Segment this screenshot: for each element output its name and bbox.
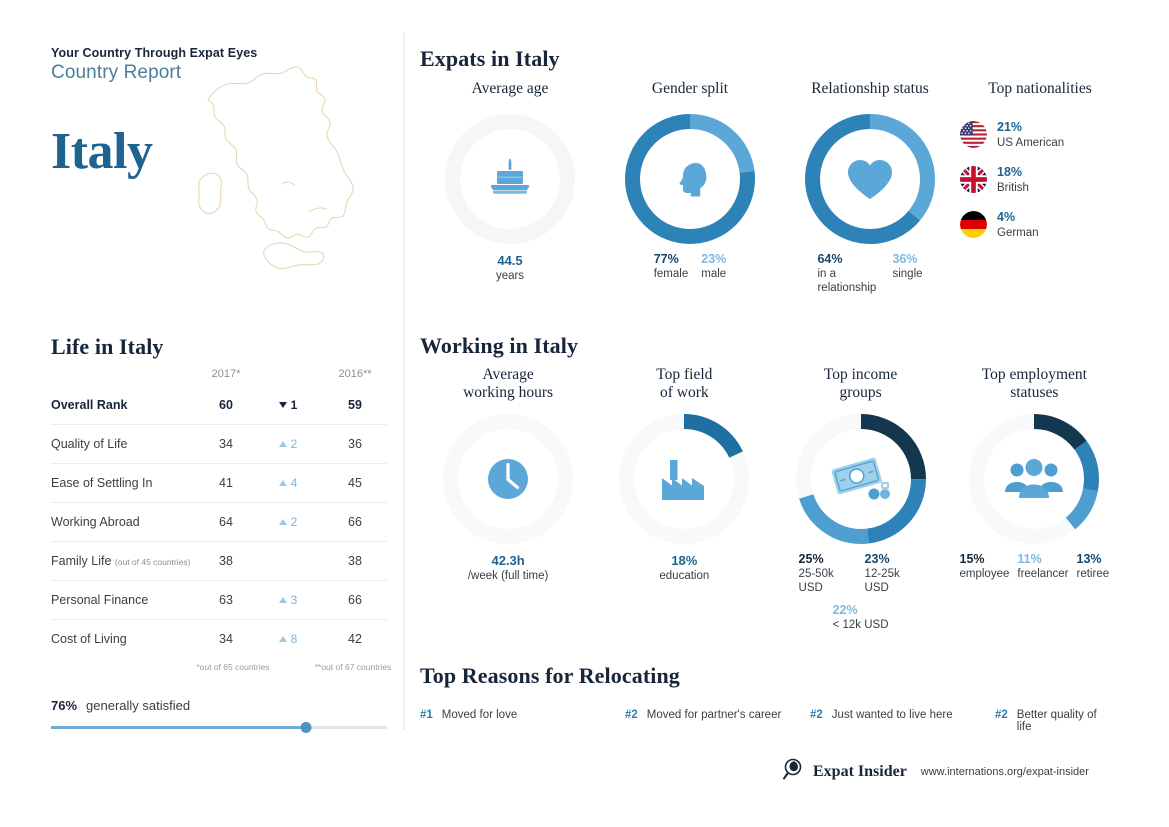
reason-rank: #1 <box>420 709 433 721</box>
reason-text: Moved for partner's career <box>647 709 782 721</box>
metric-value: 42.3h <box>420 553 596 568</box>
birthday-cake-icon <box>484 153 536 205</box>
table-row: Working Abroad64266 <box>51 503 387 542</box>
donut-chart <box>619 414 749 544</box>
infographic-page: Your Country Through Expat Eyes Country … <box>0 0 1169 827</box>
list-item: 18%British <box>960 163 1120 195</box>
factory-icon <box>658 456 710 502</box>
italy-outline-map-icon <box>160 52 370 282</box>
legend-label: freelancer <box>1017 567 1068 581</box>
list-item: 4%German <box>960 208 1120 240</box>
donut-chart <box>445 114 575 244</box>
legend-percent: 77% <box>654 252 689 267</box>
magnifier-globe-icon <box>782 757 806 786</box>
col-year-previous: 2016** <box>323 368 387 386</box>
row-value-previous: 42 <box>323 620 387 659</box>
table-header-row: 2017* 2016** <box>51 368 387 386</box>
donut-chart <box>443 414 573 544</box>
row-value-previous: 66 <box>323 503 387 542</box>
satisfaction-bar-knob[interactable] <box>301 722 312 733</box>
row-value-previous: 45 <box>323 464 387 503</box>
reason-item: #1Moved for love <box>420 709 625 733</box>
col-label <box>51 368 199 386</box>
row-value-current: 38 <box>199 542 253 581</box>
row-label: Quality of Life <box>51 425 199 464</box>
metric-block: 44.5years <box>420 253 600 282</box>
legend-label: 12-25k USD <box>865 567 923 595</box>
brand-lockup: Expat Insider <box>782 757 907 786</box>
row-value-current: 41 <box>199 464 253 503</box>
col-delta <box>253 368 323 386</box>
nationality-percent: 21% <box>997 120 1022 134</box>
legend-label: single <box>892 267 922 281</box>
expats-card-row: Average age44.5yearsGender split77%femal… <box>420 80 1120 295</box>
row-delta: 2 <box>253 425 323 464</box>
nationality-percent: 4% <box>997 210 1015 224</box>
metric-unit: education <box>596 570 772 582</box>
metric-value: 18% <box>596 553 772 568</box>
nationalities-list: 21%US American18%British4%German <box>960 118 1120 240</box>
legend-item: 13%retiree <box>1077 552 1110 581</box>
legend-label: employee <box>960 567 1010 581</box>
legend-item: 23%12-25k USD <box>865 552 923 595</box>
row-label: Family Life (out of 45 countries) <box>51 542 199 581</box>
table-footnotes: *out of 65 countries **out of 67 countri… <box>51 658 387 696</box>
row-delta: 2 <box>253 503 323 542</box>
card-title: Top employmentstatuses <box>949 366 1120 402</box>
legend-percent: 36% <box>892 252 922 267</box>
table-row: Quality of Life34236 <box>51 425 387 464</box>
card-title: Averageworking hours <box>420 366 596 402</box>
legend-percent: 22% <box>833 603 889 618</box>
banknote-coins-icon <box>830 455 892 503</box>
nationality-label: German <box>997 226 1039 240</box>
reason-rank: #2 <box>810 709 823 721</box>
legend-item: 11%freelancer <box>1017 552 1068 581</box>
legend-label: < 12k USD <box>833 618 889 632</box>
life-rank-table: 2017* 2016** Overall Rank60159Quality of… <box>51 368 387 696</box>
footnote-previous: **out of 67 countries <box>313 662 393 672</box>
card-title: Average age <box>420 80 600 98</box>
metric-value: 44.5 <box>420 253 600 268</box>
row-value-current: 34 <box>199 620 253 659</box>
card-title: Top fieldof work <box>596 366 772 402</box>
row-value-current: 34 <box>199 425 253 464</box>
table-row: Cost of Living34842 <box>51 620 387 659</box>
row-label: Ease of Settling In <box>51 464 199 503</box>
nationality-label: US American <box>997 136 1064 150</box>
donut-legend: 77%female23%male <box>600 252 780 281</box>
reasons-list: #1Moved for love#2Moved for partner's ca… <box>420 709 1110 733</box>
nationality-label: British <box>997 181 1029 195</box>
row-label: Personal Finance <box>51 581 199 620</box>
satisfaction-block: 76% generally satisfied <box>51 698 387 733</box>
footer: Expat Insider www.internations.org/expat… <box>782 757 1089 786</box>
expat-card: Relationship status64%in a relationship3… <box>780 80 960 295</box>
expat-card: Gender split77%female23%male <box>600 80 780 295</box>
legend-percent: 13% <box>1077 552 1110 567</box>
working-card: Top fieldof work18%education <box>596 366 772 632</box>
row-label: Cost of Living <box>51 620 199 659</box>
expat-card: Average age44.5years <box>420 80 600 295</box>
legend-item: 64%in a relationship <box>817 252 879 295</box>
reason-text: Just wanted to live here <box>832 709 953 721</box>
row-value-current: 64 <box>199 503 253 542</box>
brand-url[interactable]: www.internations.org/expat-insider <box>921 766 1089 778</box>
reasons-section-title: Top Reasons for Relocating <box>420 663 680 689</box>
card-title: Gender split <box>600 80 780 98</box>
legend-item: 36%single <box>892 252 922 295</box>
table-row: Overall Rank60159 <box>51 386 387 425</box>
working-card: Top employmentstatuses15%employee11%free… <box>949 366 1120 632</box>
metric-block: 42.3h/week (full time) <box>420 553 596 582</box>
working-card-row: Averageworking hours42.3h/week (full tim… <box>420 366 1120 632</box>
working-section-title: Working in Italy <box>420 333 578 359</box>
donut-legend: 25%25-50k USD23%12-25k USD22%< 12k USD <box>772 552 948 632</box>
donut-chart <box>796 414 926 544</box>
card-title: Top nationalities <box>960 80 1120 98</box>
heart-icon <box>844 155 896 203</box>
satisfaction-percent: 76% <box>51 698 77 713</box>
head-profile-icon <box>666 155 714 203</box>
legend-percent: 11% <box>1017 552 1068 567</box>
col-year-current: 2017* <box>199 368 253 386</box>
card-title: Relationship status <box>780 80 960 98</box>
nationality-percent: 18% <box>997 165 1022 179</box>
clock-icon <box>484 455 532 503</box>
life-section-title: Life in Italy <box>51 334 164 360</box>
legend-item: 22%< 12k USD <box>833 603 889 632</box>
row-delta <box>253 542 323 581</box>
donut-legend: 15%employee11%freelancer13%retiree <box>949 552 1120 581</box>
satisfaction-caption: generally satisfied <box>86 698 190 713</box>
legend-percent: 15% <box>960 552 1010 567</box>
legend-item: 23%male <box>701 252 726 281</box>
legend-percent: 23% <box>865 552 923 567</box>
legend-label: female <box>654 267 689 281</box>
reason-rank: #2 <box>625 709 638 721</box>
legend-item: 77%female <box>654 252 689 281</box>
legend-percent: 25% <box>799 552 857 567</box>
reason-text: Better quality of life <box>1017 709 1110 733</box>
flag-uk-icon <box>960 166 987 193</box>
legend-label: retiree <box>1077 567 1110 581</box>
satisfaction-bar-fill <box>51 726 306 729</box>
working-card: Top incomegroups25%25-50k USD23%12-25k U… <box>772 366 948 632</box>
row-delta: 1 <box>253 386 323 425</box>
row-delta: 8 <box>253 620 323 659</box>
reason-text: Moved for love <box>442 709 517 721</box>
donut-chart <box>805 114 935 244</box>
reason-item: #2Moved for partner's career <box>625 709 810 733</box>
donut-chart <box>625 114 755 244</box>
row-delta: 3 <box>253 581 323 620</box>
card-title: Top incomegroups <box>772 366 948 402</box>
reason-item: #2Just wanted to live here <box>810 709 995 733</box>
list-item: 21%US American <box>960 118 1120 150</box>
people-group-icon <box>1003 458 1065 500</box>
row-value-previous: 59 <box>323 386 387 425</box>
row-delta: 4 <box>253 464 323 503</box>
metric-unit: /week (full time) <box>420 570 596 582</box>
row-label: Working Abroad <box>51 503 199 542</box>
legend-label: 25-50k USD <box>799 567 857 595</box>
row-value-current: 63 <box>199 581 253 620</box>
row-value-previous: 38 <box>323 542 387 581</box>
table-row: Family Life (out of 45 countries)3838 <box>51 542 387 581</box>
metric-unit: years <box>420 270 600 282</box>
donut-legend: 64%in a relationship36%single <box>780 252 960 295</box>
legend-percent: 23% <box>701 252 726 267</box>
flag-us-icon <box>960 121 987 148</box>
legend-percent: 64% <box>817 252 879 267</box>
reason-item: #2Better quality of life <box>995 709 1110 733</box>
metric-block: 18%education <box>596 553 772 582</box>
expat-card: Top nationalities21%US American18%Britis… <box>960 80 1120 295</box>
column-divider <box>403 33 405 730</box>
brand-name: Expat Insider <box>813 763 907 781</box>
row-value-previous: 66 <box>323 581 387 620</box>
working-card: Averageworking hours42.3h/week (full tim… <box>420 366 596 632</box>
expats-section-title: Expats in Italy <box>420 46 560 72</box>
legend-item: 25%25-50k USD <box>799 552 857 595</box>
legend-label: male <box>701 267 726 281</box>
donut-chart <box>969 414 1099 544</box>
row-label: Overall Rank <box>51 386 199 425</box>
flag-de-icon <box>960 211 987 238</box>
table-row: Personal Finance63366 <box>51 581 387 620</box>
reason-rank: #2 <box>995 709 1008 721</box>
legend-label: in a relationship <box>817 267 879 295</box>
row-value-previous: 36 <box>323 425 387 464</box>
row-value-current: 60 <box>199 386 253 425</box>
legend-item: 15%employee <box>960 552 1010 581</box>
footnote-current: *out of 65 countries <box>193 662 273 672</box>
table-row: Ease of Settling In41445 <box>51 464 387 503</box>
satisfaction-bar[interactable] <box>51 723 387 733</box>
